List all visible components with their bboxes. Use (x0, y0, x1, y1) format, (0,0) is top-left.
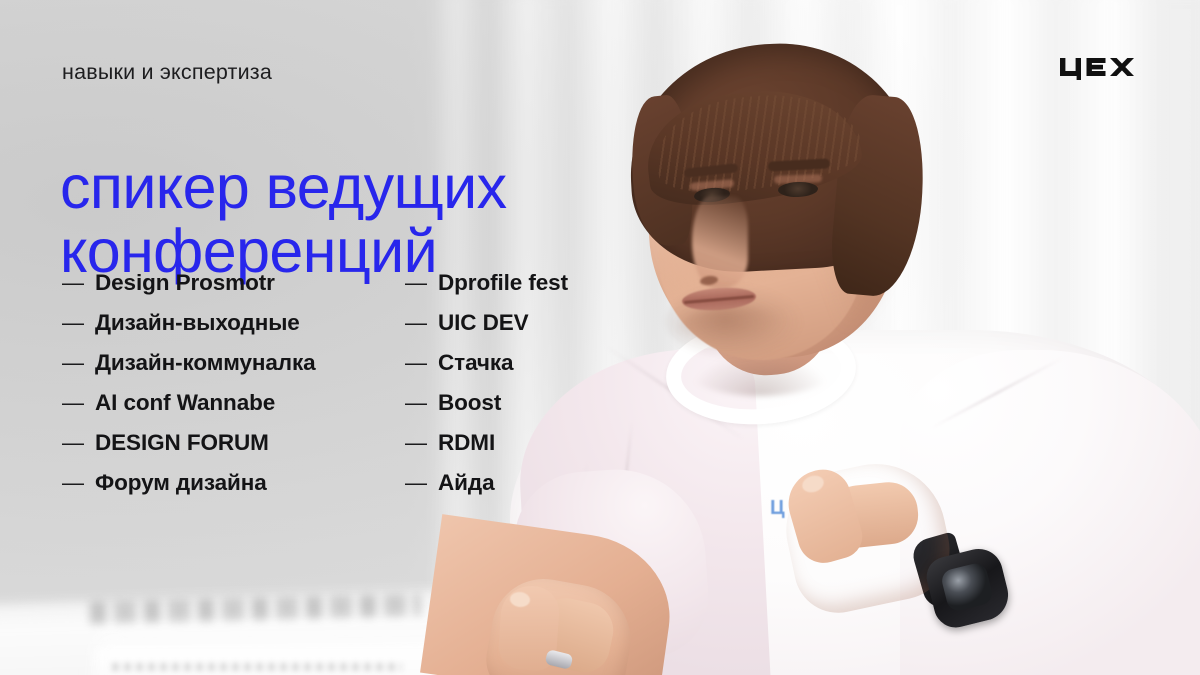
conference-name: Стачка (438, 352, 513, 375)
dash-icon: — (62, 392, 95, 414)
list-item: — Айда (405, 472, 568, 512)
dash-icon: — (62, 272, 95, 294)
nose (692, 196, 748, 288)
conference-name: DESIGN FORUM (95, 432, 269, 455)
conference-name: Design Prosmotr (95, 272, 275, 295)
conference-name: Dprofile fest (438, 272, 568, 295)
dash-icon: — (405, 432, 438, 454)
list-item: — Dprofile fest (405, 272, 568, 312)
tshirt-right-shoulder (900, 350, 1200, 675)
conference-name: AI conf Wannabe (95, 392, 275, 415)
dash-icon: — (62, 352, 95, 374)
conference-column-right: — Dprofile fest — UIC DEV — Стачка — Boo… (405, 272, 568, 512)
conference-name: Айда (438, 472, 494, 495)
dash-icon: — (405, 392, 438, 414)
list-item: — Design Prosmotr (62, 272, 405, 312)
dash-icon: — (62, 472, 95, 494)
conference-name: Дизайн-выходные (95, 312, 300, 335)
list-item: — Дизайн-коммуналка (62, 352, 405, 392)
conference-name: RDMI (438, 432, 495, 455)
conference-name: Дизайн-коммуналка (95, 352, 316, 375)
cex-logo (1060, 58, 1134, 80)
list-item: — Дизайн-выходные (62, 312, 405, 352)
conference-name: Форум дизайна (95, 472, 267, 495)
conference-lists: — Design Prosmotr — Дизайн-выходные — Ди… (62, 272, 568, 512)
conference-name: UIC DEV (438, 312, 529, 335)
dash-icon: — (62, 312, 95, 334)
list-item: — RDMI (405, 432, 568, 472)
list-item: — UIC DEV (405, 312, 568, 352)
list-item: — AI conf Wannabe (62, 392, 405, 432)
slide-eyebrow: навыки и экспертиза (62, 60, 272, 85)
dash-icon: — (405, 352, 438, 374)
chin-shadow (676, 306, 796, 358)
blurred-caption-text (112, 663, 402, 671)
presentation-slide: Ц навыки и экспертиза спикер ведущих кон… (0, 0, 1200, 675)
dash-icon: — (62, 432, 95, 454)
dash-icon: — (405, 272, 438, 294)
list-item: — Boost (405, 392, 568, 432)
list-item: — Форум дизайна (62, 472, 405, 512)
conference-name: Boost (438, 392, 501, 415)
conference-column-left: — Design Prosmotr — Дизайн-выходные — Ди… (62, 272, 405, 512)
shirt-logo-mark: Ц (770, 498, 786, 518)
page-title: спикер ведущих конференций (60, 155, 507, 283)
speaker-portrait: Ц (470, 0, 1200, 675)
list-item: — Стачка (405, 352, 568, 392)
dash-icon: — (405, 312, 438, 334)
list-item: — DESIGN FORUM (62, 432, 405, 472)
dash-icon: — (405, 472, 438, 494)
